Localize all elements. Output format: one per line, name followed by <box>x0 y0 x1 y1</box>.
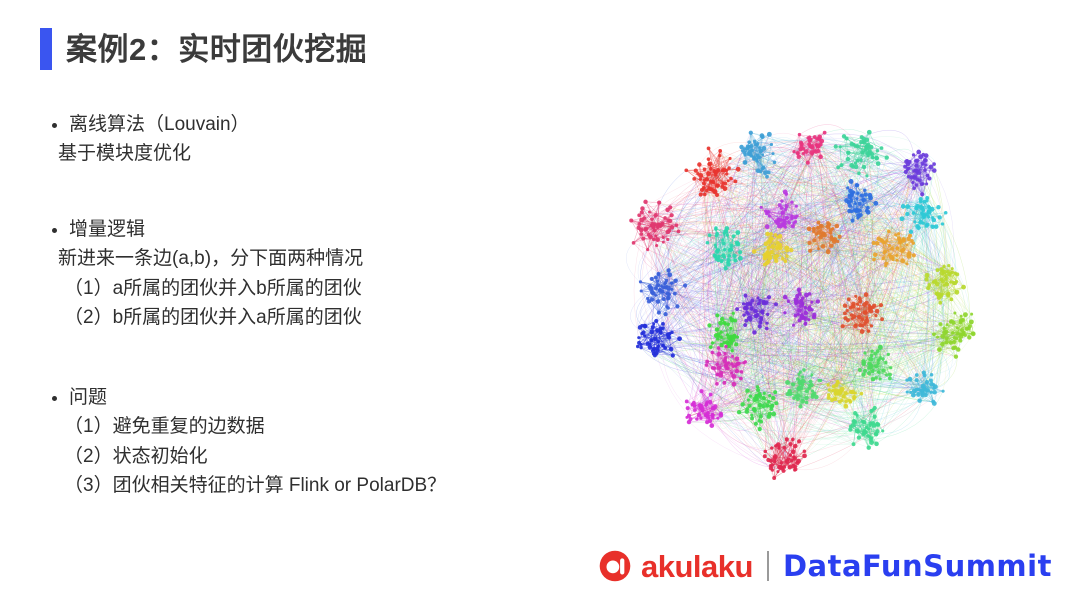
bullet-sub-line: 基于模块度优化 <box>52 139 552 168</box>
community-network-graph <box>585 85 985 485</box>
bullet-heading: 增量逻辑 <box>52 215 552 244</box>
logo-divider <box>767 551 769 581</box>
bullet-heading: 问题 <box>52 383 552 412</box>
bullet-heading: 离线算法（Louvain） <box>52 110 552 139</box>
bullet-heading-label: 增量逻辑 <box>69 215 145 244</box>
bullet-sub-line: （1）a所属的团伙并入b所属的团伙 <box>52 274 552 303</box>
title-text: 案例2：实时团伙挖掘 <box>66 34 367 65</box>
title-accent-bar <box>40 28 52 70</box>
slide-body: 离线算法（Louvain） 基于模块度优化 增量逻辑 新进来一条边(a,b)，分… <box>52 110 552 526</box>
bullet-heading-label: 离线算法（Louvain） <box>69 110 250 139</box>
bullet-sub-line: （2）状态初始化 <box>52 442 552 471</box>
bullet-dot-icon <box>52 396 57 401</box>
bullet-sub-line: （3）团伙相关特征的计算 Flink or PolarDB？ <box>52 471 552 500</box>
network-graph-svg <box>585 85 985 485</box>
bullet-dot-icon <box>52 228 57 233</box>
akulaku-logo: akulaku <box>598 549 753 583</box>
footer-logos: akulaku DataFunSummit <box>598 545 1052 587</box>
bullet-sub-line: （2）b所属的团伙并入a所属的团伙 <box>52 303 552 332</box>
akulaku-wordmark: akulaku <box>641 551 753 582</box>
datafunsummit-wordmark: DataFunSummit <box>783 552 1052 581</box>
page-title: 案例2：实时团伙挖掘 <box>40 28 367 70</box>
bullet-block-incremental-logic: 增量逻辑 新进来一条边(a,b)，分下面两种情况 （1）a所属的团伙并入b所属的… <box>52 215 552 333</box>
bullet-sub-line: 新进来一条边(a,b)，分下面两种情况 <box>52 244 552 273</box>
akulaku-circle-icon <box>598 549 632 583</box>
bullet-block-offline-algorithm: 离线算法（Louvain） 基于模块度优化 <box>52 110 552 169</box>
bullet-dot-icon <box>52 123 57 128</box>
bullet-block-questions: 问题 （1）避免重复的边数据 （2）状态初始化 （3）团伙相关特征的计算 Fli… <box>52 383 552 501</box>
bullet-sub-line: （1）避免重复的边数据 <box>52 412 552 441</box>
bullet-heading-label: 问题 <box>69 383 107 412</box>
